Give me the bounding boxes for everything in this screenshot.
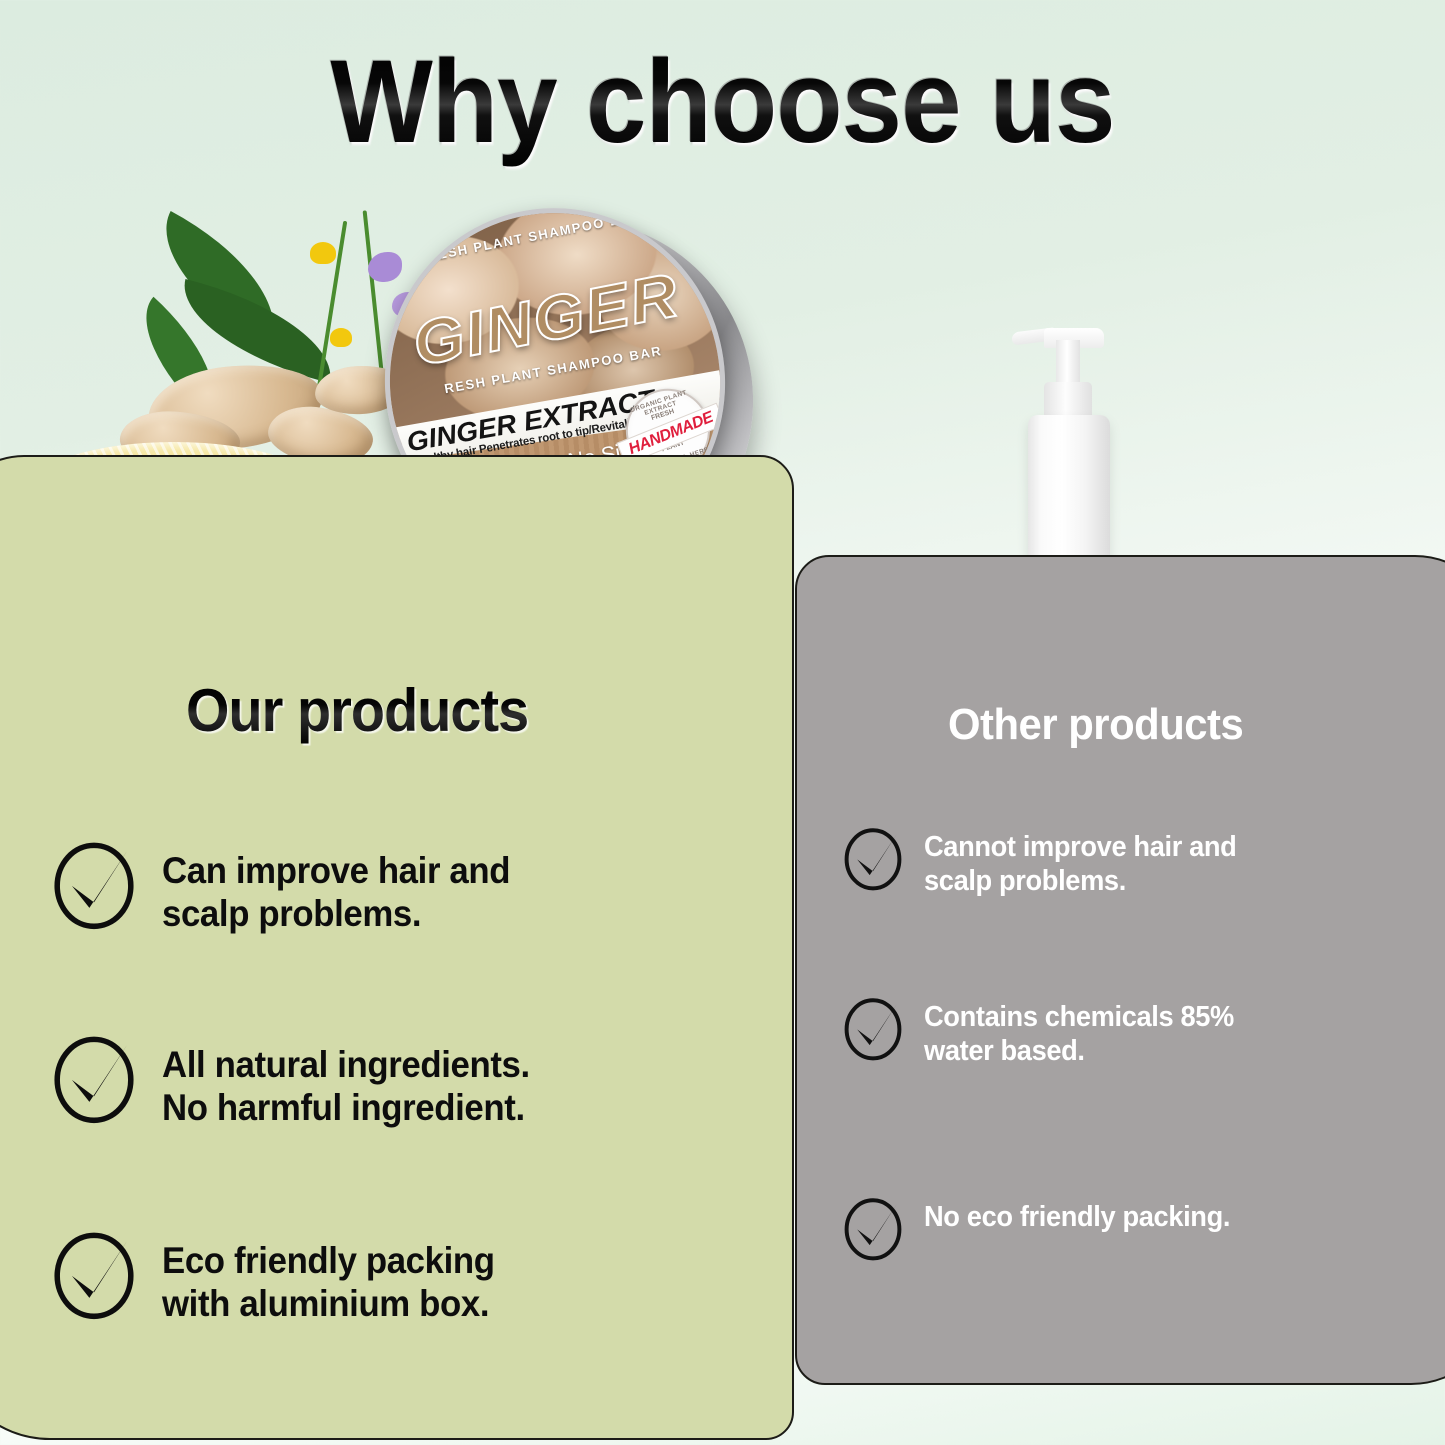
list-item-label: Contains chemicals 85% water based. bbox=[924, 1001, 1234, 1068]
list-item: Eco friendly packing with aluminium box. bbox=[48, 1228, 688, 1326]
list-item: No eco friendly packing. bbox=[840, 1195, 1440, 1261]
list-item: Can improve hair and scalp problems. bbox=[48, 838, 688, 936]
list-item-label: All natural ingredients. No harmful ingr… bbox=[162, 1044, 530, 1130]
check-circle-icon bbox=[840, 995, 906, 1061]
our-products-heading: Our products bbox=[186, 676, 528, 745]
check-circle-icon bbox=[48, 1228, 140, 1320]
check-circle-icon bbox=[48, 838, 140, 930]
list-item-label: No eco friendly packing. bbox=[924, 1201, 1230, 1235]
check-circle-icon bbox=[840, 1195, 906, 1261]
list-item-label: Cannot improve hair and scalp problems. bbox=[924, 831, 1236, 898]
list-item-label: Eco friendly packing with aluminium box. bbox=[162, 1240, 495, 1326]
yellow-flower-icon bbox=[310, 242, 336, 264]
yellow-flower-icon bbox=[330, 328, 352, 347]
page-title: Why choose us bbox=[58, 34, 1387, 170]
list-item-label: Can improve hair and scalp problems. bbox=[162, 850, 510, 936]
list-item: All natural ingredients. No harmful ingr… bbox=[48, 1032, 688, 1130]
list-item: Cannot improve hair and scalp problems. bbox=[840, 825, 1440, 898]
check-circle-icon bbox=[48, 1032, 140, 1124]
check-circle-icon bbox=[840, 825, 906, 891]
list-item: Contains chemicals 85% water based. bbox=[840, 995, 1440, 1068]
other-products-heading: Other products bbox=[948, 700, 1243, 750]
